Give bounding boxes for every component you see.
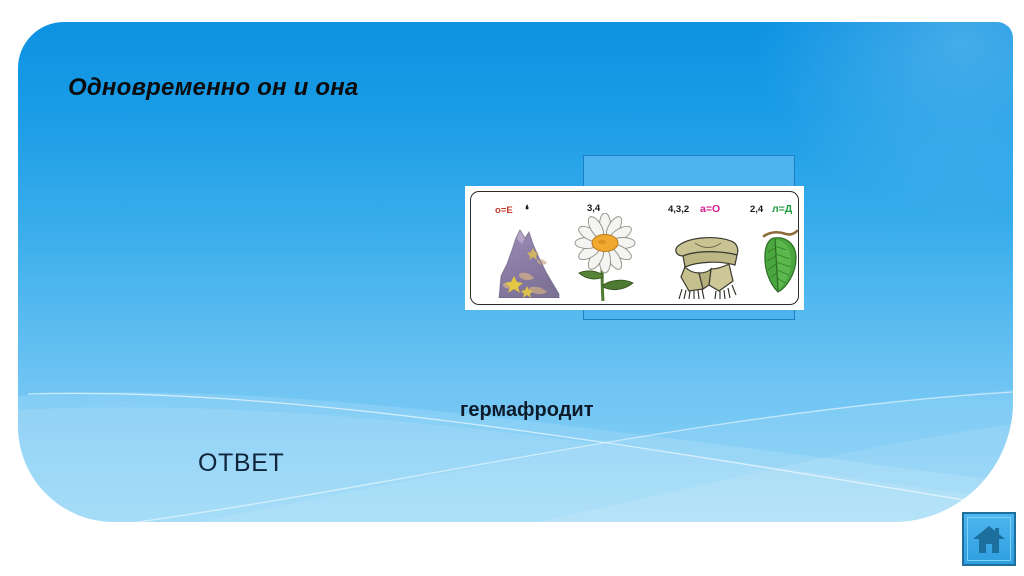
rebus-annotation-mountain: о=Е: [495, 206, 513, 216]
rebus-annotation-leaf-numbers: 2,4: [750, 205, 763, 215]
scarf-illustration: [659, 223, 753, 299]
page-title: Одновременно он и она: [68, 74, 358, 102]
rebus-card: о=Е ❛: [465, 186, 804, 310]
rebus-card-inner: о=Е ❛: [470, 191, 799, 305]
rebus-annotation-scarf: а=О: [700, 204, 720, 215]
rebus-apostrophe-mark: ❛: [525, 204, 529, 216]
daisy-flower-illustration: [559, 213, 651, 301]
home-icon: [972, 522, 1006, 556]
answer-reveal-button[interactable]: ОТВЕТ: [198, 449, 284, 478]
wave-decoration: [18, 332, 1013, 522]
mountain-illustration: [489, 224, 569, 298]
rebus-annotation-leaf: л=Д: [772, 204, 792, 215]
home-button[interactable]: [962, 512, 1016, 566]
leaf-illustration: [756, 226, 804, 296]
slide-root: Одновременно он и она о=Е ❛: [0, 0, 1024, 576]
answer-word: гермафродит: [460, 399, 594, 422]
slide-panel: Одновременно он и она о=Е ❛: [18, 22, 1013, 522]
rebus-annotation-scarf-numbers: 4,3,2: [668, 205, 689, 215]
